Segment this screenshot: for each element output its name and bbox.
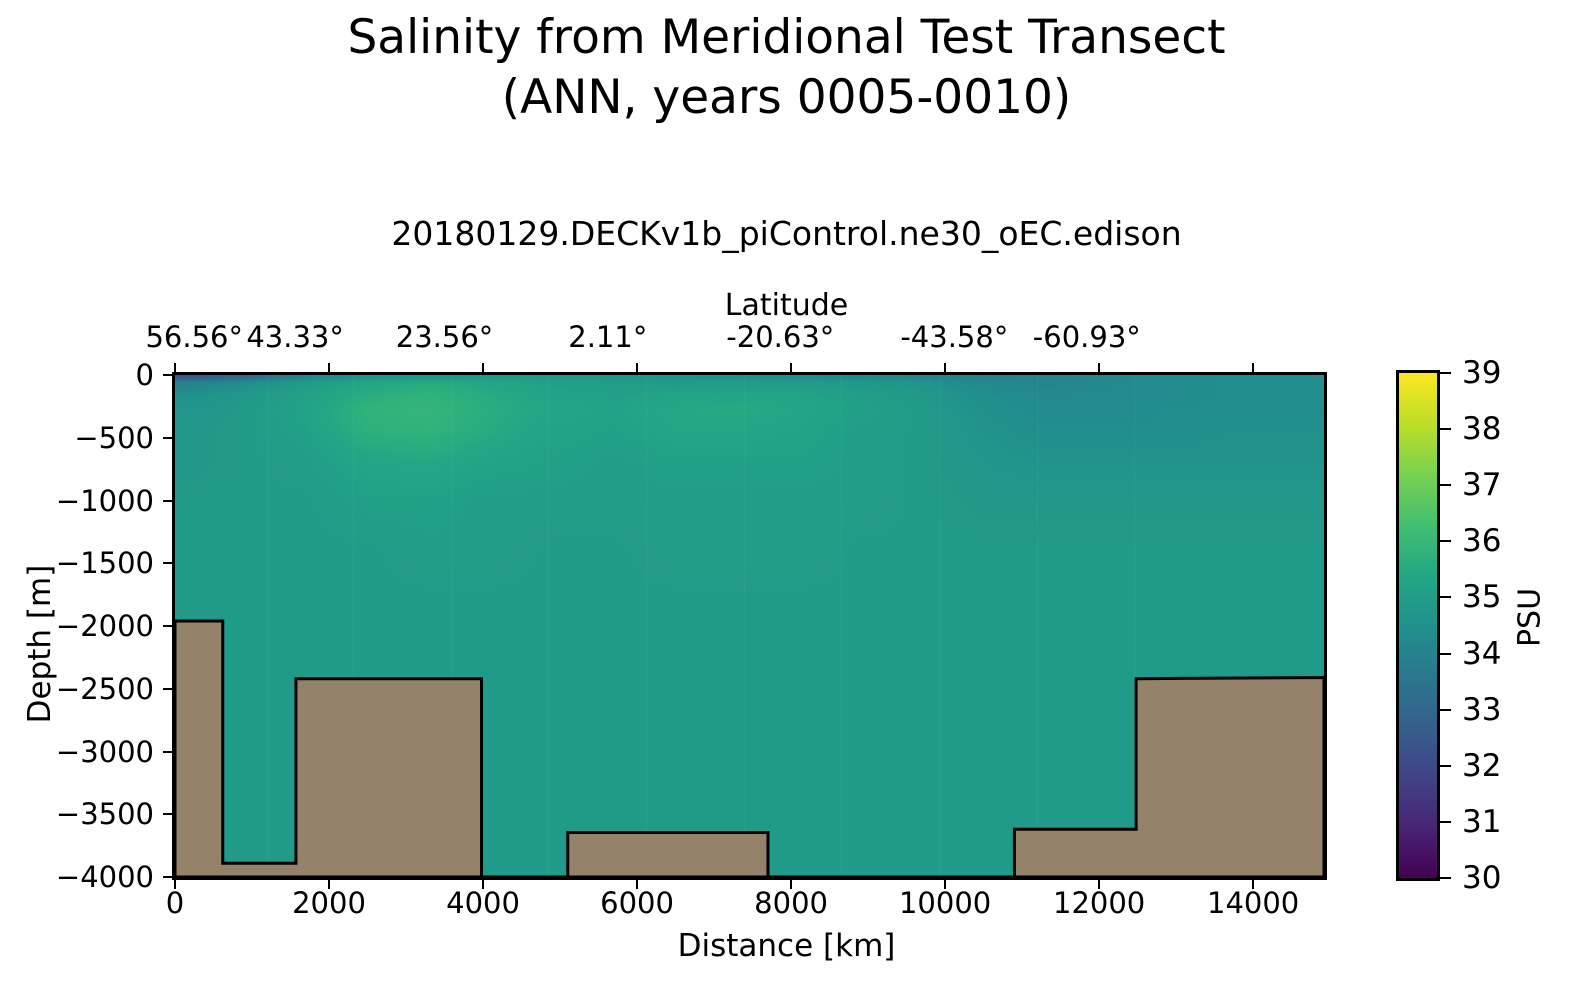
depth-tick-5: −2500 xyxy=(56,672,154,706)
colorbar-tick-32: 32 xyxy=(1462,748,1501,784)
depth-tick-6: −3000 xyxy=(56,735,154,769)
colorbar-tick-mark xyxy=(1440,653,1451,655)
title-line-1: Salinity from Meridional Test Transect xyxy=(0,8,1573,68)
x-tick-mark-top xyxy=(944,363,946,372)
depth-tick-labels: 0−500−1000−1500−2000−2500−3000−3500−4000 xyxy=(0,0,172,990)
distance-tick-2: 4000 xyxy=(446,886,520,920)
colorbar-tick-30: 30 xyxy=(1462,860,1501,896)
depth-axis-label: Depth [m] xyxy=(22,514,58,774)
distance-tick-4: 8000 xyxy=(754,886,828,920)
title-line-2: (ANN, years 0005-0010) xyxy=(0,68,1573,128)
latitude-tick-2: 23.56° xyxy=(396,320,494,354)
latitude-axis-label: Latitude xyxy=(0,288,1573,323)
transect-plot-area xyxy=(172,372,1327,880)
x-tick-mark-top xyxy=(636,363,638,372)
depth-tick-1: −500 xyxy=(74,421,154,455)
colorbar-tick-34: 34 xyxy=(1462,636,1501,672)
colorbar-tick-39: 39 xyxy=(1462,355,1501,391)
latitude-tick-4: -20.63° xyxy=(726,320,834,354)
depth-tick-0: 0 xyxy=(136,358,154,392)
colorbar-tick-mark xyxy=(1440,372,1451,374)
x-tick-mark-top xyxy=(1098,363,1100,372)
colorbar-tick-33: 33 xyxy=(1462,692,1501,728)
colorbar-tick-mark xyxy=(1440,484,1451,486)
depth-tick-3: −1500 xyxy=(56,546,154,580)
x-tick-mark-top xyxy=(790,363,792,372)
latitude-tick-3: 2.11° xyxy=(568,320,647,354)
distance-tick-6: 12000 xyxy=(1053,886,1145,920)
distance-tick-7: 14000 xyxy=(1207,886,1299,920)
colorbar-tick-35: 35 xyxy=(1462,579,1501,615)
bathymetry-overlay xyxy=(175,375,1324,877)
distance-tick-5: 10000 xyxy=(899,886,991,920)
colorbar-tick-mark xyxy=(1440,709,1451,711)
depth-tick-7: −3500 xyxy=(56,797,154,831)
colorbar-tick-31: 31 xyxy=(1462,804,1501,840)
distance-tick-0: 0 xyxy=(166,886,184,920)
distance-axis-label: Distance [km] xyxy=(0,928,1573,964)
page-title: Salinity from Meridional Test Transect (… xyxy=(0,8,1573,128)
latitude-tick-6: -60.93° xyxy=(1033,320,1141,354)
x-tick-mark-top xyxy=(482,363,484,372)
colorbar xyxy=(1396,370,1440,881)
colorbar-tick-mark xyxy=(1440,821,1451,823)
colorbar-unit-label: PSU xyxy=(1513,558,1548,678)
distance-tick-3: 6000 xyxy=(600,886,674,920)
colorbar-tick-mark xyxy=(1440,596,1451,598)
distance-tick-1: 2000 xyxy=(292,886,366,920)
x-tick-mark-top xyxy=(328,363,330,372)
latitude-tick-labels: 56.56°43.33°23.56°2.11°-20.63°-43.58°-60… xyxy=(0,320,1573,354)
latitude-tick-5: -43.58° xyxy=(900,320,1008,354)
chart-subtitle: 20180129.DECKv1b_piControl.ne30_oEC.edis… xyxy=(0,214,1573,254)
colorbar-tick-mark xyxy=(1440,428,1451,430)
colorbar-tick-37: 37 xyxy=(1462,467,1501,503)
distance-tick-labels: 02000400060008000100001200014000 xyxy=(0,886,1573,922)
depth-tick-4: −2000 xyxy=(56,609,154,643)
colorbar-tick-mark xyxy=(1440,877,1451,879)
depth-tick-2: −1000 xyxy=(56,484,154,518)
colorbar-gradient xyxy=(1399,373,1437,878)
colorbar-tick-36: 36 xyxy=(1462,523,1501,559)
colorbar-tick-mark xyxy=(1440,540,1451,542)
x-tick-mark-top xyxy=(1252,363,1254,372)
latitude-tick-1: 43.33° xyxy=(246,320,344,354)
x-tick-mark-top xyxy=(174,363,176,372)
colorbar-tick-38: 38 xyxy=(1462,411,1501,447)
colorbar-tick-mark xyxy=(1440,765,1451,767)
